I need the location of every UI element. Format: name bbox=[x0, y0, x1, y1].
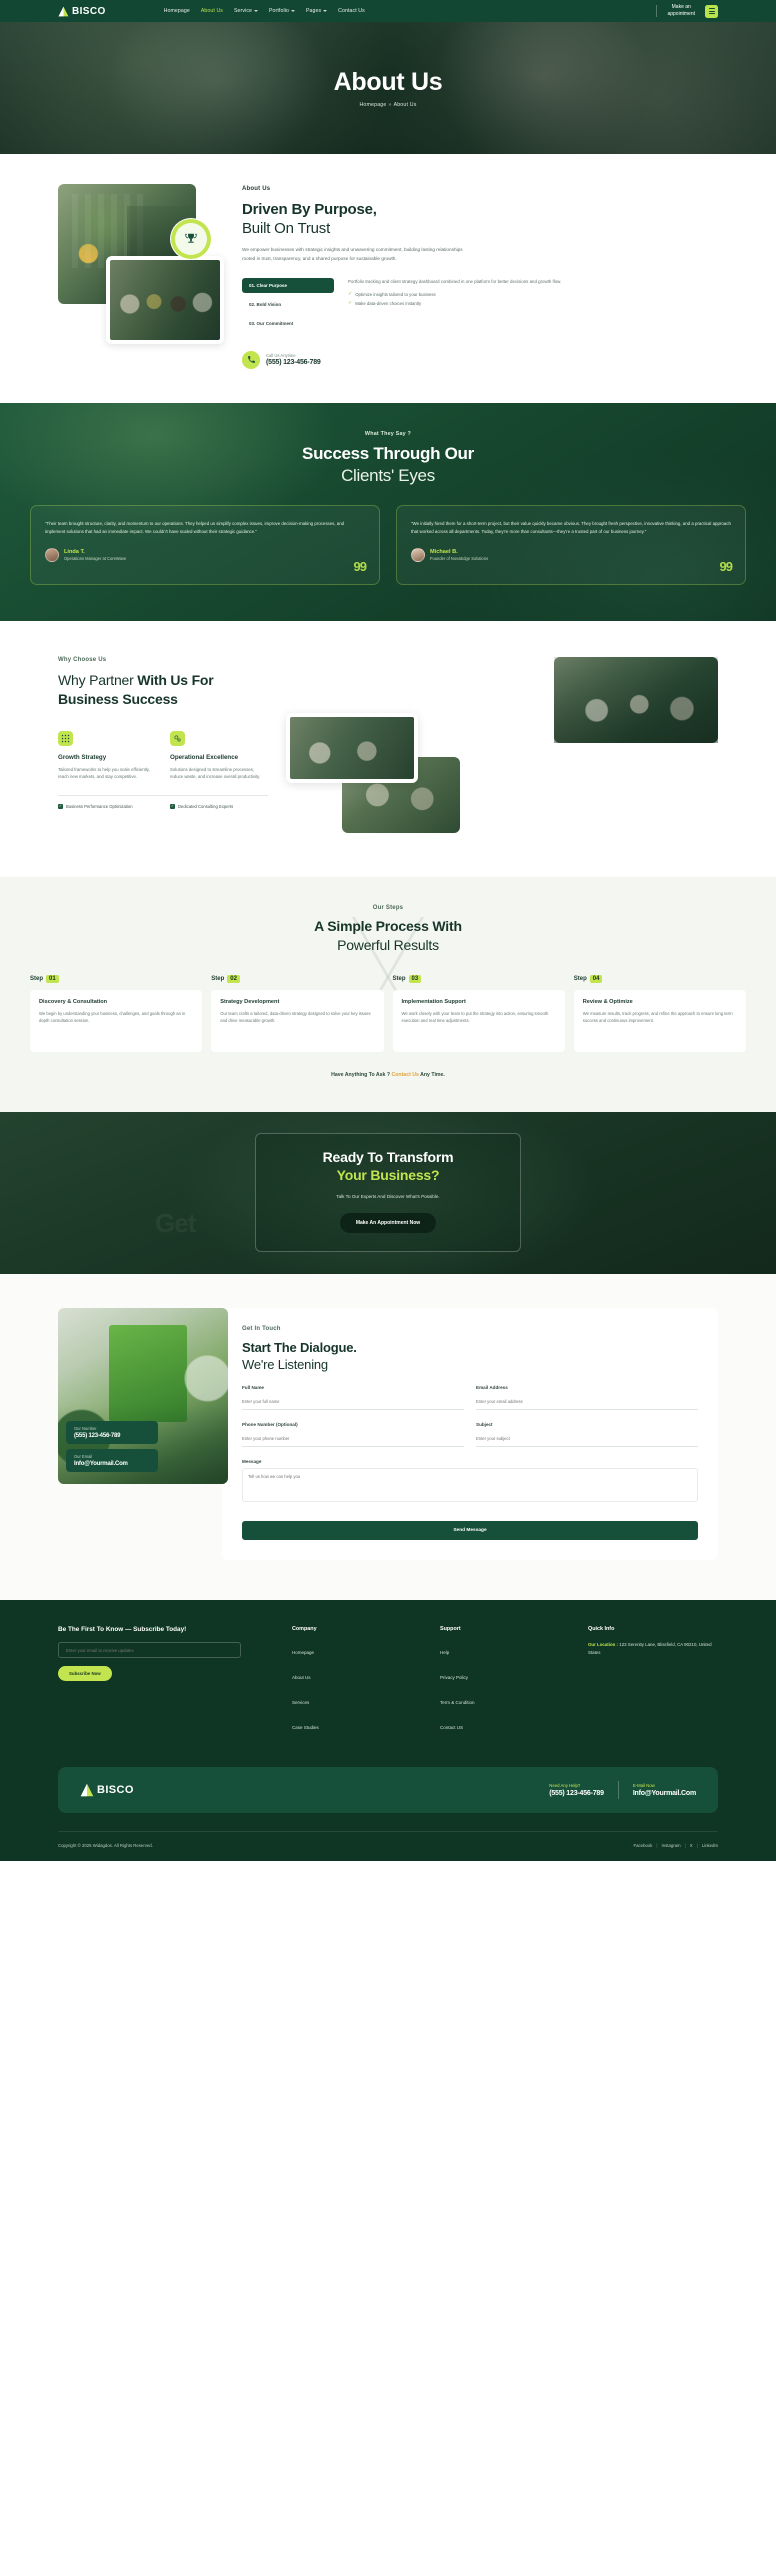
step-card: Strategy Development Our team crafts a t… bbox=[211, 990, 383, 1052]
process-footer-note: Have Anything To Ask ? Contact Us Any Ti… bbox=[30, 1072, 746, 1078]
make-appointment-button[interactable]: Make An Appointment Now bbox=[340, 1213, 436, 1233]
footer-email-block[interactable]: E-Mail Now Info@Yourmail.Com bbox=[633, 1783, 696, 1797]
call-us-number[interactable]: (555) 123-456-789 bbox=[266, 359, 321, 366]
feature-growth-strategy: Growth Strategy Tailored frameworks to h… bbox=[58, 731, 156, 781]
trophy-icon bbox=[184, 232, 198, 246]
cta-heading: Ready To Transform Your Business? bbox=[278, 1149, 498, 1185]
footer-link-term-condition[interactable]: Term & Condition bbox=[440, 1700, 475, 1705]
step-text: We measure results, track progress, and … bbox=[583, 1010, 737, 1025]
testimonial-quote: "Their team brought structure, clarity, … bbox=[45, 520, 365, 536]
send-message-button[interactable]: Send Message bbox=[242, 1521, 698, 1540]
step-label: Step01 bbox=[30, 975, 202, 983]
breadcrumb: Homepage»About Us bbox=[359, 102, 416, 108]
why-heading-bold-1: With Us For bbox=[137, 672, 213, 688]
process-step-2: Step02 Strategy Development Our team cra… bbox=[211, 975, 383, 1052]
gears-icon bbox=[170, 731, 185, 746]
quote-mark-icon: 99 bbox=[720, 559, 732, 574]
nav-item-about-us[interactable]: About Us bbox=[201, 8, 223, 14]
footer-logo-text: BISCO bbox=[97, 1784, 134, 1796]
testimonial-card: "Their team brought structure, clarity, … bbox=[30, 505, 380, 585]
testimonials-eyebrow: What They Say ? bbox=[30, 431, 746, 437]
feature-text: Tailored frameworks to help you scale ef… bbox=[58, 766, 156, 781]
about-check-label: Optimize insights tailored to your busin… bbox=[355, 292, 436, 297]
page-root: BISCO Homepage About Us Service Portfoli… bbox=[0, 0, 776, 1861]
nav-label: Service bbox=[234, 8, 252, 14]
about-content: About Us Driven By Purpose, Built On Tru… bbox=[242, 184, 718, 369]
why-eyebrow: Why Choose Us bbox=[58, 657, 268, 663]
step-title: Review & Optimize bbox=[583, 999, 737, 1005]
chevron-down-icon bbox=[254, 10, 258, 12]
testimonials-heading-line-2: Clients' Eyes bbox=[341, 466, 435, 485]
chevron-down-icon bbox=[291, 10, 295, 12]
field-subject: Subject bbox=[476, 1422, 698, 1447]
footer-address-label: Our Location : bbox=[588, 1642, 618, 1647]
step-title: Implementation Support bbox=[402, 999, 556, 1005]
process-heading-light: Powerful Results bbox=[337, 937, 439, 953]
process-eyebrow: Our Steps bbox=[30, 905, 746, 911]
social-separator: | bbox=[685, 1843, 686, 1848]
step-text: We work closely with your team to put th… bbox=[402, 1010, 556, 1025]
chevron-down-icon bbox=[323, 10, 327, 12]
contact-badge-email[interactable]: Our Email Info@Yourmail.Com bbox=[66, 1449, 158, 1472]
call-us-block[interactable]: Call Us Anytime (555) 123-456-789 bbox=[242, 351, 718, 369]
about-paragraph: We empower businesses with strategic ins… bbox=[242, 246, 472, 263]
about-check-item: ✓Make data-driven choices instantly bbox=[348, 301, 718, 306]
site-logo[interactable]: BISCO bbox=[58, 6, 106, 17]
process-header: Our Steps A Simple Process With Powerful… bbox=[30, 905, 746, 955]
social-link-instagram[interactable]: Instagram bbox=[662, 1843, 681, 1848]
why-image-group bbox=[286, 657, 718, 837]
testimonial-cards: "Their team brought structure, clarity, … bbox=[30, 505, 746, 585]
footer-help-label: Need Any Help? bbox=[549, 1783, 604, 1788]
menu-burger-icon[interactable] bbox=[705, 5, 718, 18]
subscribe-title: Be The First To Know — Subscribe Today! bbox=[58, 1626, 274, 1633]
contact-heading-bold: Start The Dialogue. bbox=[242, 1340, 357, 1355]
nav-item-contact-us[interactable]: Contact Us bbox=[338, 8, 365, 14]
phone-icon bbox=[242, 351, 260, 369]
nav-item-service[interactable]: Service bbox=[234, 8, 258, 14]
footer-subscribe: Be The First To Know — Subscribe Today! … bbox=[58, 1626, 274, 1741]
why-check-label: Dedicated Consulting Experts bbox=[178, 804, 233, 809]
contact-eyebrow: Get In Touch bbox=[242, 1326, 698, 1332]
testimonial-author: Michael B. Founder of NovaEdge Solutions bbox=[411, 548, 731, 562]
list-item: Homepage bbox=[292, 1641, 422, 1659]
badge-value: (555) 123-456-789 bbox=[74, 1433, 150, 1439]
cta-heading-line-1: Ready To Transform bbox=[323, 1149, 454, 1165]
field-label: Phone Number (Optional) bbox=[242, 1422, 464, 1427]
step-card: Review & Optimize We measure results, tr… bbox=[574, 990, 746, 1052]
footer-link-case-studies[interactable]: Case Studies bbox=[292, 1725, 319, 1730]
contact-section: Our Number (555) 123-456-789 Our Email I… bbox=[0, 1274, 776, 1600]
field-label: Email Address bbox=[476, 1385, 698, 1390]
contact-badge-number[interactable]: Our Number (555) 123-456-789 bbox=[66, 1421, 158, 1444]
main-nav: Homepage About Us Service Portfolio Page… bbox=[164, 8, 365, 14]
step-title: Discovery & Consultation bbox=[39, 999, 193, 1005]
contact-image: Our Number (555) 123-456-789 Our Email I… bbox=[58, 1308, 228, 1484]
social-link-linkedin[interactable]: LinkedIn bbox=[702, 1843, 718, 1848]
nav-item-pages[interactable]: Pages bbox=[306, 8, 327, 14]
testimonials-header: What They Say ? Success Through Our Clie… bbox=[30, 431, 746, 487]
why-heading: Why Partner With Us For Business Success bbox=[58, 671, 268, 709]
footer-column-company: Company Homepage About Us Services Case … bbox=[292, 1626, 422, 1741]
site-header: BISCO Homepage About Us Service Portfoli… bbox=[0, 0, 776, 22]
contact-badges: Our Number (555) 123-456-789 Our Email I… bbox=[66, 1421, 158, 1472]
contact-row-3: Message bbox=[242, 1459, 698, 1507]
step-word: Step bbox=[393, 976, 406, 982]
award-badge bbox=[170, 218, 212, 260]
social-link-facebook[interactable]: Facebook bbox=[634, 1843, 653, 1848]
about-eyebrow: About Us bbox=[242, 186, 718, 192]
breadcrumb-separator: » bbox=[388, 102, 391, 108]
why-features: Growth Strategy Tailored frameworks to h… bbox=[58, 731, 268, 781]
footer-column-title: Company bbox=[292, 1626, 422, 1632]
about-check-list: ✓Optimize insights tailored to your busi… bbox=[348, 292, 718, 306]
process-step-1: Step01 Discovery & Consultation We begin… bbox=[30, 975, 202, 1052]
testimonial-author: Linda T. Operations Manager at CoreWave bbox=[45, 548, 365, 562]
message-textarea[interactable] bbox=[242, 1468, 698, 1502]
contact-heading-light: We're Listening bbox=[242, 1357, 328, 1372]
footer-column-title: Quick Info bbox=[588, 1626, 718, 1632]
footer-link-privacy-policy[interactable]: Privacy Policy bbox=[440, 1675, 468, 1680]
nav-label: Portfolio bbox=[269, 8, 289, 14]
step-word: Step bbox=[30, 976, 43, 982]
appointment-line-1: Make an bbox=[667, 4, 695, 11]
logo-triangle-icon bbox=[80, 1783, 94, 1797]
step-label: Step04 bbox=[574, 975, 746, 983]
process-note-pre: Have Anything To Ask ? bbox=[331, 1072, 391, 1078]
process-step-4: Step04 Review & Optimize We measure resu… bbox=[574, 975, 746, 1052]
list-item: Privacy Policy bbox=[440, 1666, 570, 1684]
step-number: 03 bbox=[409, 975, 422, 983]
footer-top: Be The First To Know — Subscribe Today! … bbox=[58, 1626, 718, 1741]
why-content: Why Choose Us Why Partner With Us For Bu… bbox=[58, 657, 268, 837]
field-email-address: Email Address bbox=[476, 1385, 698, 1410]
why-heading-bold-2: Business Success bbox=[58, 691, 178, 707]
phone-input[interactable] bbox=[242, 1432, 464, 1447]
feature-title: Operational Excellence bbox=[170, 754, 268, 761]
field-label: Message bbox=[242, 1459, 698, 1464]
step-label: Step02 bbox=[211, 975, 383, 983]
avatar bbox=[45, 548, 59, 562]
cta-heading-line-2: Your Business? bbox=[337, 1167, 440, 1183]
step-card: Discovery & Consultation We begin by und… bbox=[30, 990, 202, 1052]
footer-column-title: Support bbox=[440, 1626, 570, 1632]
contact-form-panel: Get In Touch Start The Dialogue. We're L… bbox=[222, 1308, 718, 1560]
badge-ring bbox=[171, 219, 211, 259]
breadcrumb-home[interactable]: Homepage bbox=[359, 102, 386, 108]
nav-label: Contact Us bbox=[338, 8, 365, 14]
quote-mark-icon: 99 bbox=[354, 559, 366, 574]
about-visual-group bbox=[58, 184, 224, 344]
cta-section: Ready To Transform Your Business? Talk T… bbox=[0, 1112, 776, 1274]
footer-column-quick-info: Quick Info Our Location : 123 Serenity L… bbox=[588, 1626, 718, 1741]
list-item: Case Studies bbox=[292, 1716, 422, 1734]
page-title: About Us bbox=[334, 68, 443, 97]
footer-link-help[interactable]: Help bbox=[440, 1650, 449, 1655]
footer-column-support: Support Help Privacy Policy Term & Condi… bbox=[440, 1626, 570, 1741]
avatar bbox=[411, 548, 425, 562]
list-item: Contact US bbox=[440, 1716, 570, 1734]
testimonials-heading: Success Through Our Clients' Eyes bbox=[30, 443, 746, 487]
testimonial-quote: "We initially hired them for a short-ter… bbox=[411, 520, 731, 536]
about-image-secondary bbox=[106, 256, 224, 344]
about-heading: Driven By Purpose, Built On Trust bbox=[242, 200, 718, 238]
check-icon: ✓ bbox=[348, 292, 352, 297]
contact-row-2: Phone Number (Optional) Subject bbox=[242, 1422, 698, 1447]
accordion-item-clear-purpose[interactable]: 01. Clear Purpose bbox=[242, 278, 334, 293]
make-appointment-link[interactable]: Make an appointment bbox=[667, 4, 695, 18]
field-phone-number: Phone Number (Optional) bbox=[242, 1422, 464, 1447]
process-contact-link[interactable]: Contact Us bbox=[392, 1072, 419, 1078]
full-name-input[interactable] bbox=[242, 1395, 464, 1410]
hero-banner: About Us Homepage»About Us bbox=[0, 22, 776, 154]
checkbox-checked-icon[interactable]: ✓ bbox=[58, 804, 63, 809]
logo-triangle-icon bbox=[58, 6, 69, 17]
step-word: Step bbox=[574, 976, 587, 982]
about-heading-line-1: Driven By Purpose, bbox=[242, 201, 377, 218]
logo-text: BISCO bbox=[72, 6, 106, 17]
badge-label: Our Email bbox=[74, 1454, 150, 1459]
step-text: We begin by understanding your business,… bbox=[39, 1010, 193, 1025]
footer-link-about-us[interactable]: About Us bbox=[292, 1675, 311, 1680]
process-steps: Step01 Discovery & Consultation We begin… bbox=[30, 975, 746, 1052]
list-item: Services bbox=[292, 1691, 422, 1709]
footer-phone-value: (555) 123-456-789 bbox=[549, 1790, 604, 1797]
why-choose-us-section: Why Choose Us Why Partner With Us For Bu… bbox=[0, 621, 776, 877]
feature-text: Solutions designed to streamline process… bbox=[170, 766, 268, 781]
copyright: Copyright © 2025 Widagdos. All Rights Re… bbox=[58, 1843, 153, 1848]
nav-label: Pages bbox=[306, 8, 321, 14]
footer-link-contact-us[interactable]: Contact US bbox=[440, 1725, 463, 1730]
step-title: Strategy Development bbox=[220, 999, 374, 1005]
testimonial-card: "We initially hired them for a short-ter… bbox=[396, 505, 746, 585]
testimonial-role: Operations Manager at CoreWave bbox=[64, 556, 126, 561]
accordion-item-bold-vision[interactable]: 02. Bold Vision bbox=[242, 297, 334, 312]
footer-bottom: Copyright © 2025 Widagdos. All Rights Re… bbox=[58, 1831, 718, 1861]
field-message: Message bbox=[242, 1459, 698, 1507]
subscribe-button[interactable]: Subscribe Now bbox=[58, 1666, 112, 1681]
divider bbox=[58, 795, 268, 796]
site-footer: Be The First To Know — Subscribe Today! … bbox=[0, 1600, 776, 1861]
footer-logo[interactable]: BISCO bbox=[80, 1783, 134, 1797]
check-icon: ✓ bbox=[348, 301, 352, 306]
nav-label: Homepage bbox=[164, 8, 190, 14]
step-card: Implementation Support We work closely w… bbox=[393, 990, 565, 1052]
why-image-top bbox=[554, 657, 718, 743]
testimonial-role: Founder of NovaEdge Solutions bbox=[430, 556, 488, 561]
why-heading-light: Why Partner bbox=[58, 672, 137, 688]
breadcrumb-current: About Us bbox=[394, 102, 417, 108]
footer-divider bbox=[618, 1781, 619, 1799]
badge-value: Info@Yourmail.Com bbox=[74, 1461, 150, 1467]
testimonial-name: Linda T. bbox=[64, 549, 126, 555]
list-item: Term & Condition bbox=[440, 1691, 570, 1709]
step-number: 02 bbox=[227, 975, 240, 983]
cta-box: Ready To Transform Your Business? Talk T… bbox=[255, 1133, 521, 1252]
contact-heading: Start The Dialogue. We're Listening bbox=[242, 1339, 698, 1373]
about-check-label: Make data-driven choices instantly bbox=[355, 301, 421, 306]
about-section: About Us Driven By Purpose, Built On Tru… bbox=[0, 154, 776, 403]
footer-email-value: Info@Yourmail.Com bbox=[633, 1790, 696, 1797]
process-heading-bold: A Simple Process With bbox=[314, 918, 462, 934]
process-step-3: Step03 Implementation Support We work cl… bbox=[393, 975, 565, 1052]
step-text: Our team crafts a tailored, data-driven … bbox=[220, 1010, 374, 1025]
social-links: Facebook | Instagram | X | LinkedIn bbox=[634, 1843, 718, 1848]
subscribe-email-input[interactable] bbox=[58, 1642, 241, 1658]
footer-contact-card: BISCO Need Any Help? (555) 123-456-789 E… bbox=[58, 1767, 718, 1813]
step-number: 04 bbox=[590, 975, 603, 983]
footer-link-services[interactable]: Services bbox=[292, 1700, 309, 1705]
email-input[interactable] bbox=[476, 1395, 698, 1410]
contact-row-1: Full Name Email Address bbox=[242, 1385, 698, 1410]
why-image-left bbox=[286, 713, 418, 783]
feature-operational-excellence: Operational Excellence Solutions designe… bbox=[170, 731, 268, 781]
appointment-line-2: appointment bbox=[667, 11, 695, 18]
footer-address: Our Location : 123 Serenity Lane, Blissf… bbox=[588, 1641, 718, 1656]
subject-input[interactable] bbox=[476, 1432, 698, 1447]
social-separator: | bbox=[697, 1843, 698, 1848]
list-item: About Us bbox=[292, 1666, 422, 1684]
about-check-item: ✓Optimize insights tailored to your busi… bbox=[348, 292, 718, 297]
testimonials-heading-line-1: Success Through Our bbox=[302, 444, 474, 463]
grid-dots-icon bbox=[58, 731, 73, 746]
call-us-label: Call Us Anytime bbox=[266, 353, 321, 358]
accordion-item-our-commitment[interactable]: 03. Our Commitment bbox=[242, 316, 334, 331]
nav-item-homepage[interactable]: Homepage bbox=[164, 8, 190, 14]
about-panel-text: Portfolio tracking and client strategy d… bbox=[348, 278, 718, 286]
why-check-item: ✓Dedicated Consulting Experts bbox=[170, 804, 268, 809]
step-word: Step bbox=[211, 976, 224, 982]
social-separator: | bbox=[656, 1843, 657, 1848]
about-panel: Portfolio tracking and client strategy d… bbox=[348, 278, 718, 335]
nav-label: About Us bbox=[201, 8, 223, 14]
social-link-x[interactable]: X bbox=[690, 1843, 693, 1848]
testimonials-section: What They Say ? Success Through Our Clie… bbox=[0, 403, 776, 621]
header-actions: Make an appointment bbox=[656, 4, 718, 18]
field-label: Full Name bbox=[242, 1385, 464, 1390]
header-divider bbox=[656, 5, 657, 17]
checkbox-checked-icon[interactable]: ✓ bbox=[170, 804, 175, 809]
footer-phone-block[interactable]: Need Any Help? (555) 123-456-789 bbox=[549, 1783, 604, 1797]
list-item: Help bbox=[440, 1641, 570, 1659]
cta-subtitle: Talk To Our Experts And Discover What's … bbox=[278, 1193, 498, 1201]
why-check-list: ✓Business Performance Optimization ✓Dedi… bbox=[58, 804, 268, 809]
field-label: Subject bbox=[476, 1422, 698, 1427]
about-columns: 01. Clear Purpose 02. Bold Vision 03. Ou… bbox=[242, 278, 718, 335]
about-accordion: 01. Clear Purpose 02. Bold Vision 03. Ou… bbox=[242, 278, 334, 335]
step-label: Step03 bbox=[393, 975, 565, 983]
footer-contact-info: Need Any Help? (555) 123-456-789 E-Mail … bbox=[549, 1781, 696, 1799]
nav-item-portfolio[interactable]: Portfolio bbox=[269, 8, 295, 14]
field-full-name: Full Name bbox=[242, 1385, 464, 1410]
why-check-item: ✓Business Performance Optimization bbox=[58, 804, 156, 809]
process-section: Our Steps A Simple Process With Powerful… bbox=[0, 877, 776, 1112]
process-note-post: Any Time. bbox=[419, 1072, 445, 1078]
why-check-label: Business Performance Optimization bbox=[66, 804, 133, 809]
step-number: 01 bbox=[46, 975, 59, 983]
testimonial-name: Michael B. bbox=[430, 549, 488, 555]
badge-label: Our Number bbox=[74, 1426, 150, 1431]
about-heading-line-2: Built On Trust bbox=[242, 220, 330, 237]
footer-email-label: E-Mail Now bbox=[633, 1783, 696, 1788]
footer-link-homepage[interactable]: Homepage bbox=[292, 1650, 314, 1655]
process-heading: A Simple Process With Powerful Results bbox=[30, 917, 746, 955]
feature-title: Growth Strategy bbox=[58, 754, 156, 761]
